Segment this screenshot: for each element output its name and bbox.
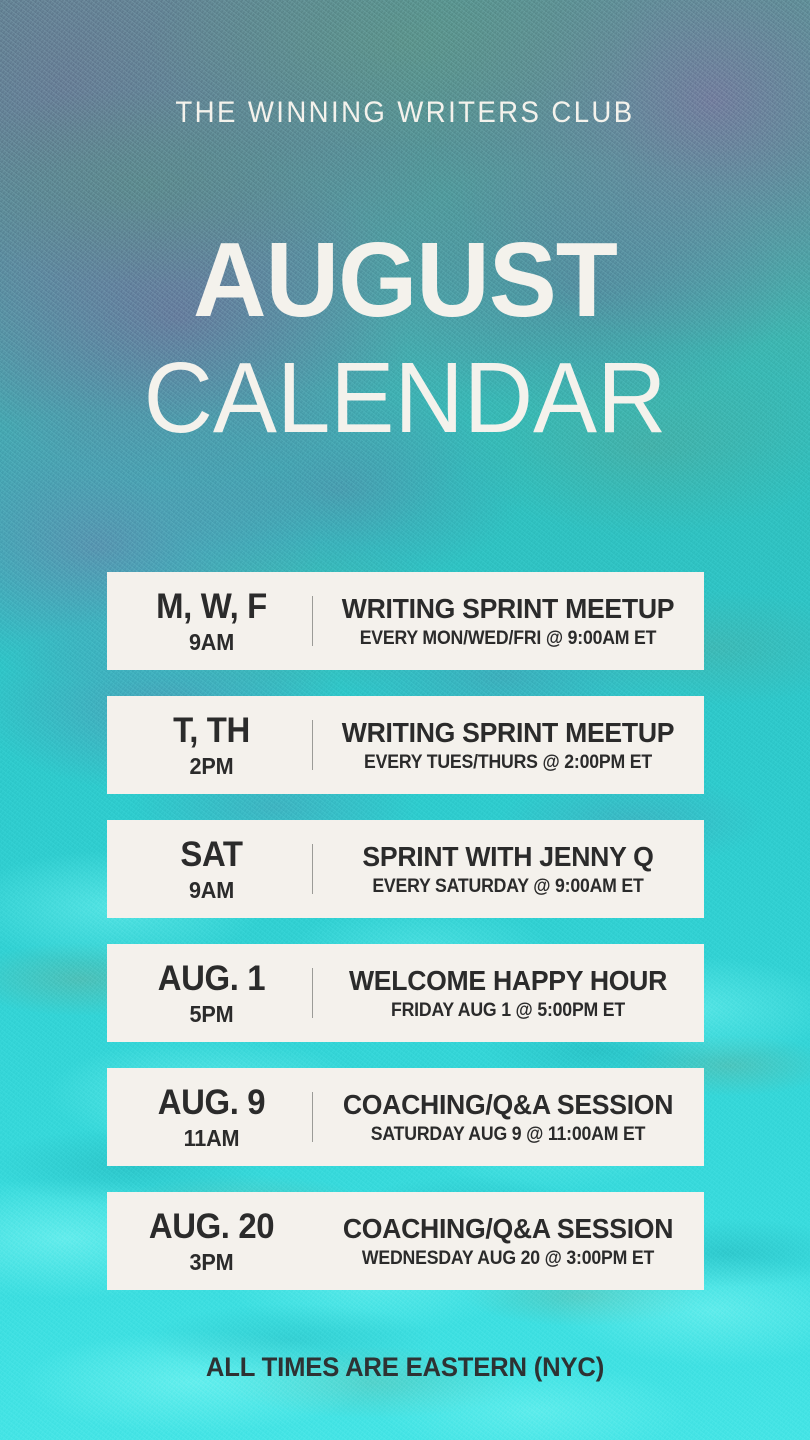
page-title-calendar: CALENDAR (16, 348, 794, 448)
schedule-row[interactable]: T, TH 2PM WRITING SPRINT MEETUP EVERY TU… (107, 696, 704, 794)
schedule-row-when: AUG. 9 11AM (107, 1084, 312, 1151)
schedule-row-detail: SATURDAY AUG 9 @ 11:00AM ET (331, 1123, 684, 1146)
schedule-row-day: SAT (117, 836, 306, 874)
schedule-row[interactable]: SAT 9AM SPRINT WITH JENNY Q EVERY SATURD… (107, 820, 704, 918)
schedule-row-event: WRITING SPRINT MEETUP (328, 593, 689, 625)
schedule-row-day: AUG. 20 (117, 1208, 306, 1246)
schedule-row-when: AUG. 1 5PM (107, 960, 312, 1027)
schedule-row-day: M, W, F (117, 588, 306, 626)
schedule-row-what: COACHING/Q&A SESSION WEDNESDAY AUG 20 @ … (312, 1213, 704, 1270)
timezone-note: ALL TIMES ARE EASTERN (NYC) (20, 1352, 790, 1383)
schedule-row-detail: EVERY MON/WED/FRI @ 9:00AM ET (331, 627, 684, 650)
schedule-row-when: SAT 9AM (107, 836, 312, 903)
schedule-row-event: SPRINT WITH JENNY Q (328, 841, 689, 873)
schedule-row-divider (312, 720, 313, 770)
schedule-row[interactable]: AUG. 9 11AM COACHING/Q&A SESSION SATURDA… (107, 1068, 704, 1166)
schedule-row-what: WELCOME HAPPY HOUR FRIDAY AUG 1 @ 5:00PM… (312, 965, 704, 1022)
schedule-row-divider (312, 968, 313, 1018)
schedule-row-day: T, TH (117, 712, 306, 750)
schedule-row-time: 3PM (117, 1249, 306, 1275)
schedule-row-divider (312, 1092, 313, 1142)
schedule-row-time: 9AM (117, 877, 306, 903)
schedule-row-day: AUG. 1 (117, 960, 306, 998)
page-title-month: AUGUST (16, 232, 794, 328)
schedule-row-divider (312, 596, 313, 646)
schedule-row-event: WRITING SPRINT MEETUP (328, 717, 689, 749)
schedule-row-time: 9AM (117, 629, 306, 655)
schedule-row-detail: FRIDAY AUG 1 @ 5:00PM ET (331, 999, 684, 1022)
schedule-row-detail: EVERY SATURDAY @ 9:00AM ET (331, 875, 684, 898)
schedule-row-what: WRITING SPRINT MEETUP EVERY MON/WED/FRI … (312, 593, 704, 650)
poster-content: THE WINNING WRITERS CLUB AUGUST CALENDAR… (0, 0, 810, 1440)
schedule-row-when: AUG. 20 3PM (107, 1208, 312, 1275)
schedule-row-day: AUG. 9 (117, 1084, 306, 1122)
brand-name: THE WINNING WRITERS CLUB (32, 96, 777, 130)
schedule-row-event: WELCOME HAPPY HOUR (328, 965, 689, 997)
schedule-row-when: M, W, F 9AM (107, 588, 312, 655)
schedule-row-what: WRITING SPRINT MEETUP EVERY TUES/THURS @… (312, 717, 704, 774)
schedule-row-event: COACHING/Q&A SESSION (328, 1089, 689, 1121)
schedule-row-when: T, TH 2PM (107, 712, 312, 779)
schedule-row-what: COACHING/Q&A SESSION SATURDAY AUG 9 @ 11… (312, 1089, 704, 1146)
schedule-list: M, W, F 9AM WRITING SPRINT MEETUP EVERY … (107, 572, 704, 1316)
schedule-row[interactable]: AUG. 20 3PM COACHING/Q&A SESSION WEDNESD… (107, 1192, 704, 1290)
schedule-row-event: COACHING/Q&A SESSION (328, 1213, 689, 1245)
schedule-row-detail: WEDNESDAY AUG 20 @ 3:00PM ET (331, 1247, 684, 1270)
schedule-row-divider (312, 844, 313, 894)
calendar-poster: THE WINNING WRITERS CLUB AUGUST CALENDAR… (0, 0, 810, 1440)
schedule-row[interactable]: M, W, F 9AM WRITING SPRINT MEETUP EVERY … (107, 572, 704, 670)
schedule-row-detail: EVERY TUES/THURS @ 2:00PM ET (331, 751, 684, 774)
schedule-row-what: SPRINT WITH JENNY Q EVERY SATURDAY @ 9:0… (312, 841, 704, 898)
schedule-row-time: 11AM (117, 1125, 306, 1151)
schedule-row-time: 2PM (117, 753, 306, 779)
schedule-row[interactable]: AUG. 1 5PM WELCOME HAPPY HOUR FRIDAY AUG… (107, 944, 704, 1042)
schedule-row-time: 5PM (117, 1001, 306, 1027)
